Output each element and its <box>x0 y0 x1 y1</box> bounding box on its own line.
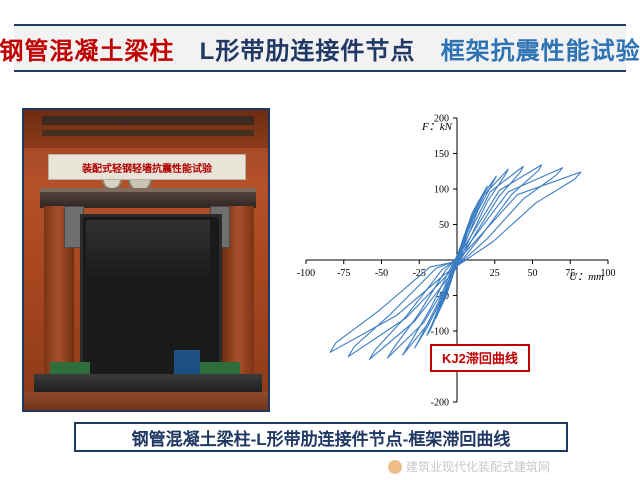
photo-base-plate <box>34 374 262 392</box>
y-tick-label: -100 <box>431 327 449 338</box>
x-tick-label: 25 <box>490 268 500 279</box>
slide-title-bar: 钢管混凝土梁柱 L形带肋连接件节点 框架抗震性能试验 <box>14 24 626 72</box>
figure-caption-bar: 钢管混凝土梁柱-L形带肋连接件节点-框架滞回曲线 <box>74 422 568 452</box>
kj2-badge-label: KJ2滞回曲线 <box>442 351 518 366</box>
photo-ceiling-beam-secondary <box>42 130 254 136</box>
watermark: 建筑业现代化装配式建筑网 <box>388 458 550 475</box>
chart-series-group <box>330 165 581 360</box>
y-tick-label: 50 <box>439 220 449 231</box>
hysteresis-chart: -100-75-50-25255075100-200-150-100-50501… <box>288 108 626 412</box>
x-tick-label: 50 <box>528 268 538 279</box>
y-axis-label: F：kN <box>421 121 453 133</box>
photo-banner-text: 装配式轻钢轻墙抗震性能试验 <box>82 160 212 175</box>
photo-floor <box>24 392 268 412</box>
title-part-2: L形带肋连接件节点 <box>200 38 416 65</box>
title-part-3: 框架抗震性能试验 <box>441 38 640 65</box>
title-part-1: 钢管混凝土梁柱 <box>0 38 174 65</box>
y-tick-label: 100 <box>434 185 449 196</box>
test-rig-photo: 装配式轻钢轻墙抗震性能试验 <box>22 108 270 412</box>
hysteresis-loop-9 <box>330 172 581 352</box>
photo-blue-block <box>174 350 200 376</box>
slide-title: 钢管混凝土梁柱 L形带肋连接件节点 框架抗震性能试验 <box>0 31 640 66</box>
photo-top-beam-highlight <box>40 188 256 192</box>
x-tick-label: -75 <box>337 268 350 279</box>
photo-specimen-sheen <box>86 220 210 280</box>
x-axis-label: U：mm <box>569 271 604 283</box>
x-tick-label: -50 <box>375 268 388 279</box>
kj2-badge: KJ2滞回曲线 <box>430 344 530 372</box>
x-tick-label: -100 <box>297 268 315 279</box>
figure-caption-text: 钢管混凝土梁柱-L形带肋连接件节点-框架滞回曲线 <box>132 425 511 450</box>
y-tick-label: 150 <box>434 149 449 160</box>
watermark-text: 建筑业现代化装配式建筑网 <box>406 458 550 475</box>
photo-banner: 装配式轻钢轻墙抗震性能试验 <box>48 154 246 180</box>
x-tick-label: -25 <box>413 268 426 279</box>
y-tick-label: -200 <box>431 398 449 409</box>
photo-ceiling-beam <box>42 116 254 125</box>
watermark-logo-icon <box>388 460 402 474</box>
